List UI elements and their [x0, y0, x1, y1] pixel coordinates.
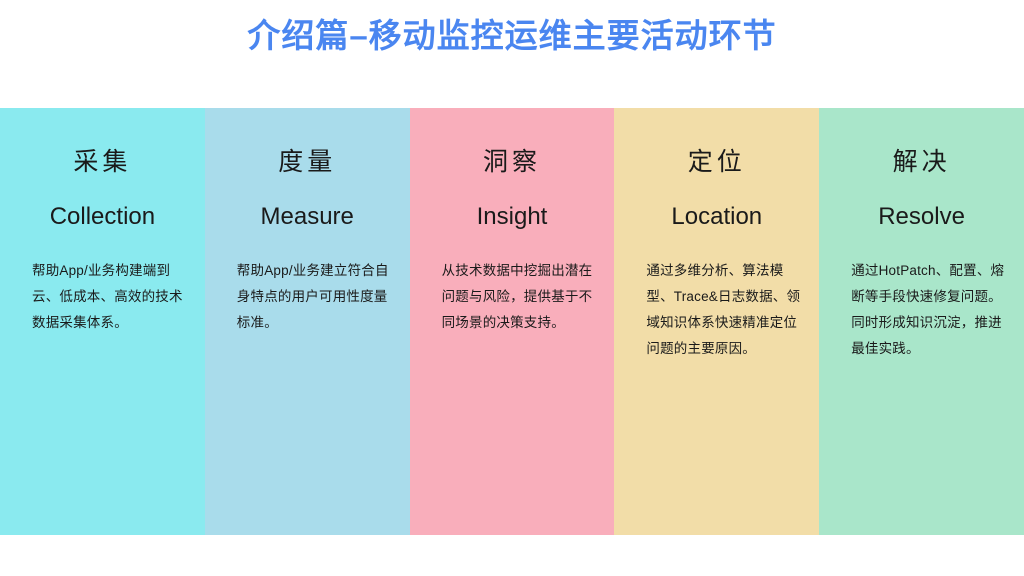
stage-description-resolve: 通过HotPatch、配置、熔断等手段快速修复问题。同时形成知识沉淀，推进最佳实… — [851, 258, 1006, 362]
stage-column-collection: 采集 Collection 帮助App/业务构建端到云、低成本、高效的技术数据采… — [0, 108, 205, 535]
page-title: 介绍篇–移动监控运维主要活动环节 — [0, 14, 1024, 58]
stage-column-resolve: 解决 Resolve 通过HotPatch、配置、熔断等手段快速修复问题。同时形… — [819, 108, 1024, 535]
stage-description-collection: 帮助App/业务构建端到云、低成本、高效的技术数据采集体系。 — [32, 258, 187, 336]
stage-title-cn-measure: 度量 — [205, 146, 410, 178]
stage-description-measure: 帮助App/业务建立符合自身特点的用户可用性度量标准。 — [237, 258, 392, 336]
stage-title-cn-resolve: 解决 — [819, 146, 1024, 178]
stage-title-cn-location: 定位 — [614, 146, 819, 178]
stage-title-cn-insight: 洞察 — [410, 146, 615, 178]
stage-column-insight: 洞察 Insight 从技术数据中挖掘出潜在问题与风险，提供基于不同场景的决策支… — [410, 108, 615, 535]
stage-title-en-collection: Collection — [0, 202, 205, 232]
stage-column-measure: 度量 Measure 帮助App/业务建立符合自身特点的用户可用性度量标准。 — [205, 108, 410, 535]
stage-description-location: 通过多维分析、算法模型、Trace&日志数据、领域知识体系快速精准定位问题的主要… — [646, 258, 801, 362]
slide-canvas: 介绍篇–移动监控运维主要活动环节 采集 Collection 帮助App/业务构… — [0, 0, 1024, 576]
activity-stage-columns: 采集 Collection 帮助App/业务构建端到云、低成本、高效的技术数据采… — [0, 108, 1024, 535]
stage-title-en-insight: Insight — [410, 202, 615, 232]
stage-title-en-location: Location — [614, 202, 819, 232]
stage-column-location: 定位 Location 通过多维分析、算法模型、Trace&日志数据、领域知识体… — [614, 108, 819, 535]
stage-title-en-measure: Measure — [205, 202, 410, 232]
stage-title-en-resolve: Resolve — [819, 202, 1024, 232]
stage-description-insight: 从技术数据中挖掘出潜在问题与风险，提供基于不同场景的决策支持。 — [442, 258, 597, 336]
stage-title-cn-collection: 采集 — [0, 146, 205, 178]
